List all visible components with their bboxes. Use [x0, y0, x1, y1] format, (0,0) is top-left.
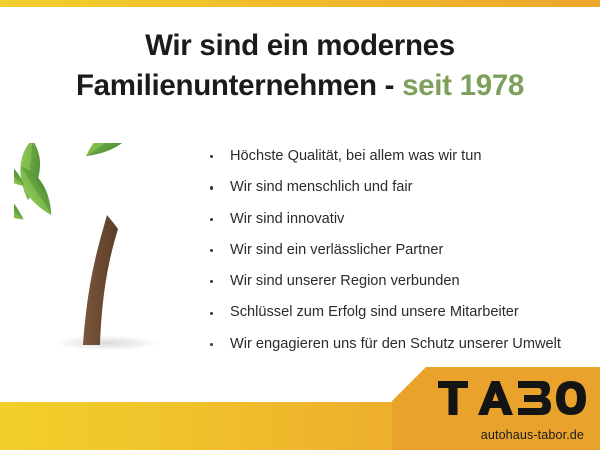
brand-website: autohaus-tabor.de [481, 428, 584, 442]
top-accent-bar [0, 0, 600, 7]
heading-line-2: Familienunternehmen - seit 1978 [0, 66, 600, 106]
heading-accent-year: seit 1978 [402, 69, 524, 102]
list-item-label: Schlüssel zum Erfolg sind unsere Mitarbe… [230, 304, 519, 320]
list-item-label: Wir sind unserer Region verbunden [230, 273, 460, 289]
tabor-wordmark [438, 381, 586, 415]
list-item: Wir sind ein verlässlicher Partner [208, 235, 593, 266]
tree-trunk [83, 215, 118, 345]
bullet-dot-icon [210, 343, 213, 346]
list-item-label: Wir sind ein verlässlicher Partner [230, 242, 443, 258]
list-item: Schlüssel zum Erfolg sind unsere Mitarbe… [208, 297, 593, 328]
page-title: Wir sind ein modernes Familienunternehme… [0, 26, 600, 106]
promo-slide: Wir sind ein modernes Familienunternehme… [0, 0, 600, 450]
list-item-label: Wir engagieren uns für den Schutz unsere… [230, 336, 561, 352]
list-item: Wir sind innovativ [208, 204, 593, 235]
brand-logo-panel: autohaus-tabor.de [392, 367, 600, 450]
tree-illustration [14, 143, 200, 358]
bullet-dot-icon [210, 312, 213, 315]
list-item: Höchste Qualität, bei allem was wir tun [208, 141, 593, 172]
bullet-dot-icon [210, 186, 213, 189]
bullet-dot-icon [210, 280, 213, 283]
value-list: Höchste Qualität, bei allem was wir tun … [208, 141, 593, 360]
list-item-label: Höchste Qualität, bei allem was wir tun [230, 148, 481, 164]
tree-leaves [14, 143, 158, 228]
list-item: Wir engagieren uns für den Schutz unsere… [208, 329, 593, 360]
list-item: Wir sind menschlich und fair [208, 172, 593, 203]
heading-line-2-prefix: Familienunternehmen - [76, 69, 402, 102]
bullet-dot-icon [210, 218, 213, 221]
bullet-dot-icon [210, 155, 213, 158]
list-item-label: Wir sind innovativ [230, 211, 344, 227]
list-item-label: Wir sind menschlich und fair [230, 179, 413, 195]
bullet-dot-icon [210, 249, 213, 252]
heading-line-1: Wir sind ein modernes [0, 26, 600, 66]
list-item: Wir sind unserer Region verbunden [208, 266, 593, 297]
tree-shadow [55, 336, 159, 351]
